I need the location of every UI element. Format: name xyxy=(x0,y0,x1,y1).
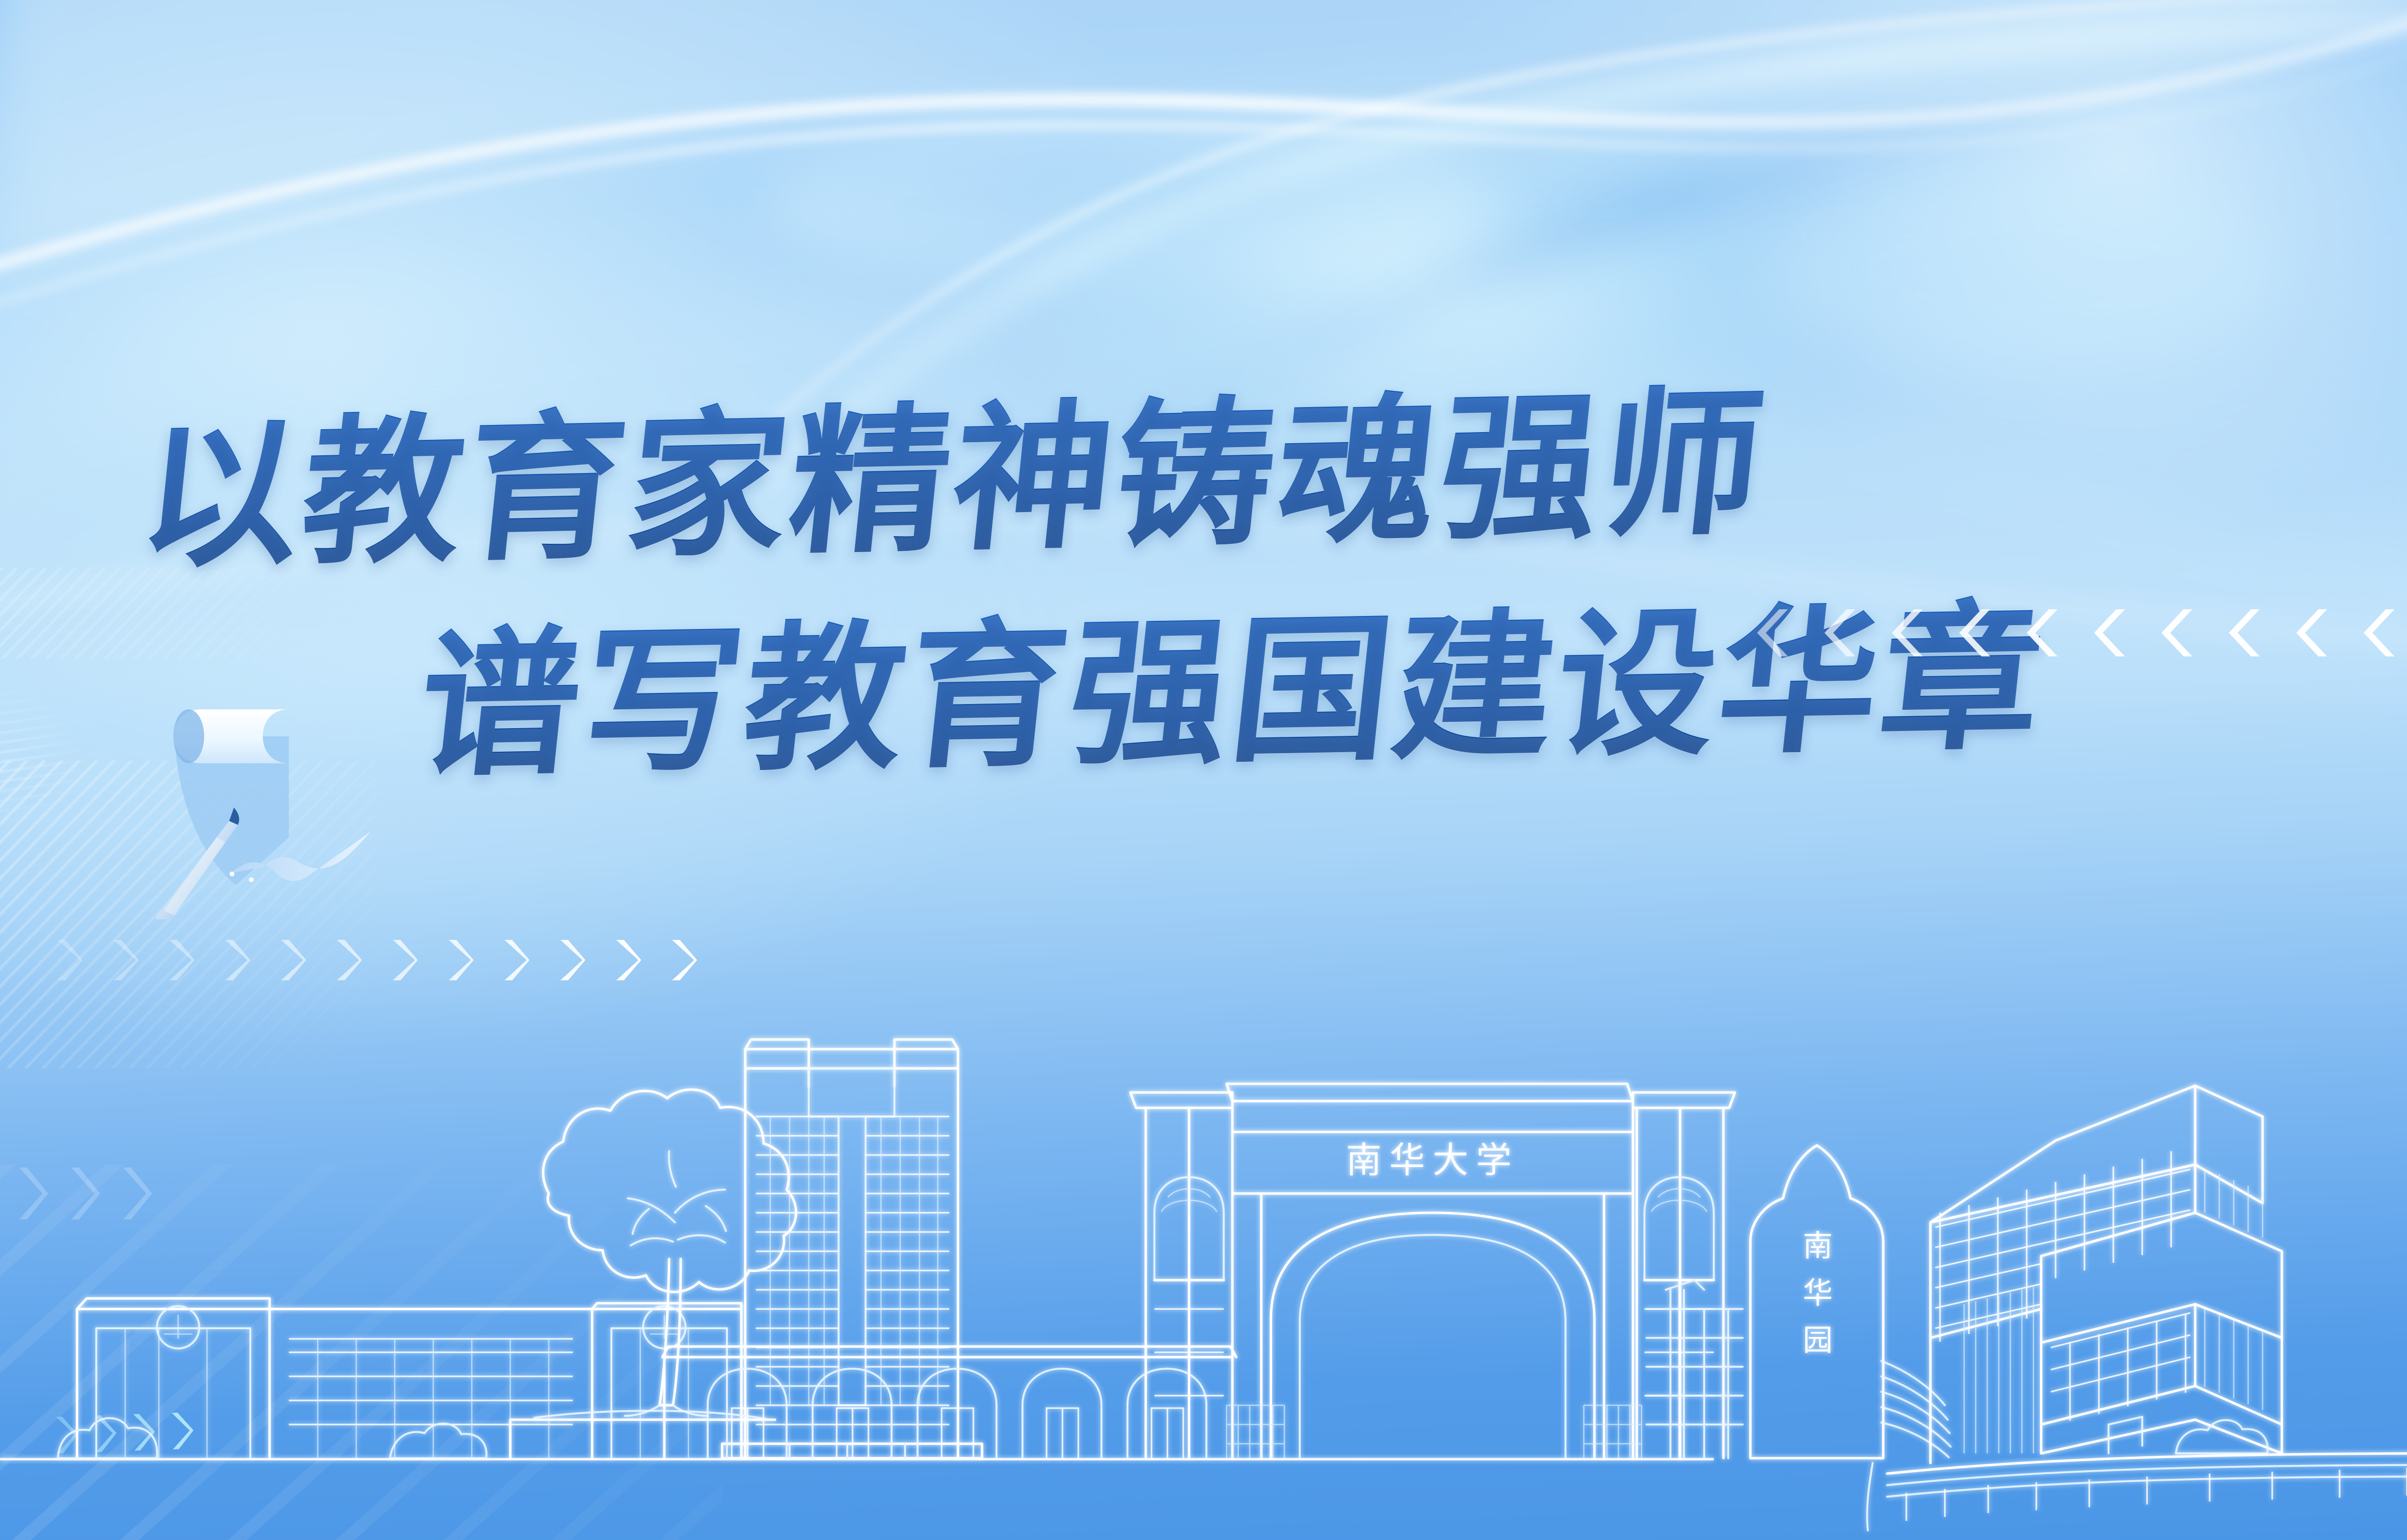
chevron-left-icon xyxy=(1887,604,1928,661)
hatch-pattern-upper-left xyxy=(0,568,327,659)
chevrons-left-strip xyxy=(1752,597,2407,669)
chevron-right-icon xyxy=(109,936,142,984)
chevron-left-icon xyxy=(2359,604,2399,661)
chevron-left-icon xyxy=(2224,604,2265,661)
chevron-right-icon xyxy=(118,1163,156,1224)
chevron-right-icon xyxy=(91,1411,120,1456)
chevron-right-icon xyxy=(500,936,533,984)
scroll-and-brush-icon xyxy=(144,679,395,919)
chevron-right-icon xyxy=(53,936,87,984)
chevron-right-icon xyxy=(611,936,645,984)
chevron-left-icon xyxy=(1752,604,1793,661)
chevron-right-icon xyxy=(165,936,198,984)
chevron-left-icon xyxy=(1820,604,1860,661)
sparkle-dot xyxy=(230,872,234,876)
chevron-right-icon xyxy=(52,1412,82,1457)
chevron-right-icon xyxy=(66,1163,104,1224)
chevrons-backdrop-strip xyxy=(14,1155,217,1232)
chevron-right-icon xyxy=(556,936,589,984)
chevron-right-icon xyxy=(14,1163,52,1224)
chevrons-right-strip xyxy=(53,929,592,991)
chevron-left-icon xyxy=(2291,604,2332,661)
chevron-left-icon xyxy=(1954,604,1995,661)
chevron-right-icon xyxy=(667,936,701,984)
chevron-right-icon xyxy=(332,936,366,984)
banner-canvas: 以教育家精神铸魂强师 谱写教育强国建设华章 xyxy=(0,0,2407,1540)
chevron-right-icon xyxy=(168,1408,197,1453)
scroll-roll-hole xyxy=(173,709,204,763)
chevron-left-icon xyxy=(2157,604,2197,661)
chevron-right-icon xyxy=(276,936,310,984)
chevron-right-icon xyxy=(388,936,422,984)
chevrons-accent-strip xyxy=(52,1402,256,1462)
chevron-right-icon xyxy=(220,936,254,984)
chevron-right-icon xyxy=(129,1410,158,1455)
chevron-right-icon xyxy=(444,936,478,984)
chevron-left-icon xyxy=(2089,604,2130,661)
chevron-left-icon xyxy=(2022,604,2062,661)
sparkle-dot xyxy=(249,877,254,882)
